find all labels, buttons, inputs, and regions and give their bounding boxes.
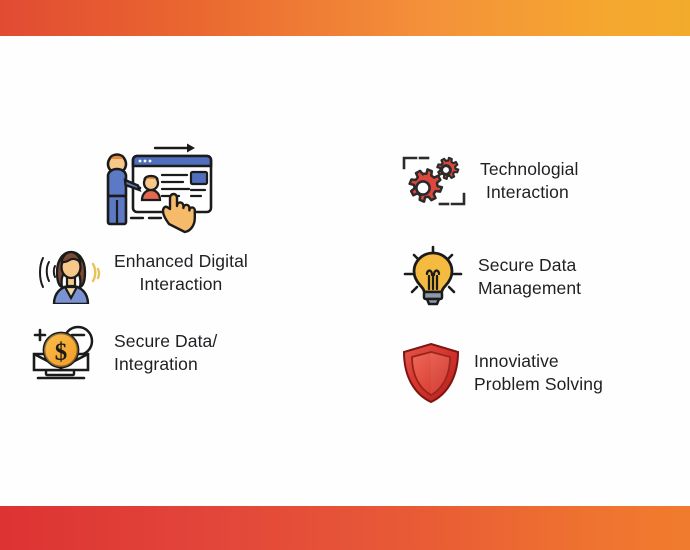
gears-icon	[398, 150, 470, 212]
presentation-webinar-illustration	[95, 140, 223, 236]
feature-label-line1: Technologial	[480, 159, 579, 179]
slide-canvas: es	[0, 0, 690, 550]
feature-label-line2: Management	[478, 277, 581, 300]
feature-label-line2: Interaction	[480, 181, 579, 204]
feature-label-line1: Enhanced Digital	[114, 251, 248, 271]
lightbulb-icon	[398, 244, 468, 310]
feature-label-line1: Secure Data	[478, 255, 576, 275]
left-column: Enhanced Digital Interaction	[0, 140, 330, 384]
shield-icon	[398, 340, 464, 406]
feature-label: Technologial Interaction	[480, 158, 579, 204]
feature-label: Innoviative Problem Solving	[474, 350, 603, 396]
dollar-coin-envelope-icon: $	[24, 322, 104, 384]
feature-label-line2: Integration	[114, 353, 217, 376]
feature-label: Secure Data Management	[478, 254, 581, 300]
feature-label-line2: Problem Solving	[474, 373, 603, 396]
top-gradient-bar	[0, 0, 690, 36]
feature-hero-illustration	[95, 140, 330, 236]
feature-technological-interaction[interactable]: Technologial Interaction	[398, 150, 690, 212]
feature-label-line2: Interaction	[114, 273, 248, 296]
right-column: Technologial Interaction	[390, 150, 690, 406]
svg-text:$: $	[55, 339, 68, 366]
bottom-gradient-bar	[0, 506, 690, 550]
feature-secure-data-management[interactable]: Secure Data Management	[398, 244, 690, 310]
feature-innovative-problem-solving[interactable]: Innoviative Problem Solving	[398, 340, 690, 406]
feature-label: Secure Data/ Integration	[114, 330, 217, 376]
feature-label-line1: Innoviative	[474, 351, 559, 371]
feature-secure-data-integration[interactable]: $ Secure Data/ Integration	[24, 322, 330, 384]
woman-avatar-icon	[38, 242, 104, 304]
feature-label: Enhanced Digital Interaction	[114, 250, 248, 296]
feature-label-line1: Secure Data/	[114, 331, 217, 351]
feature-enhanced-digital-interaction[interactable]: Enhanced Digital Interaction	[38, 242, 330, 304]
